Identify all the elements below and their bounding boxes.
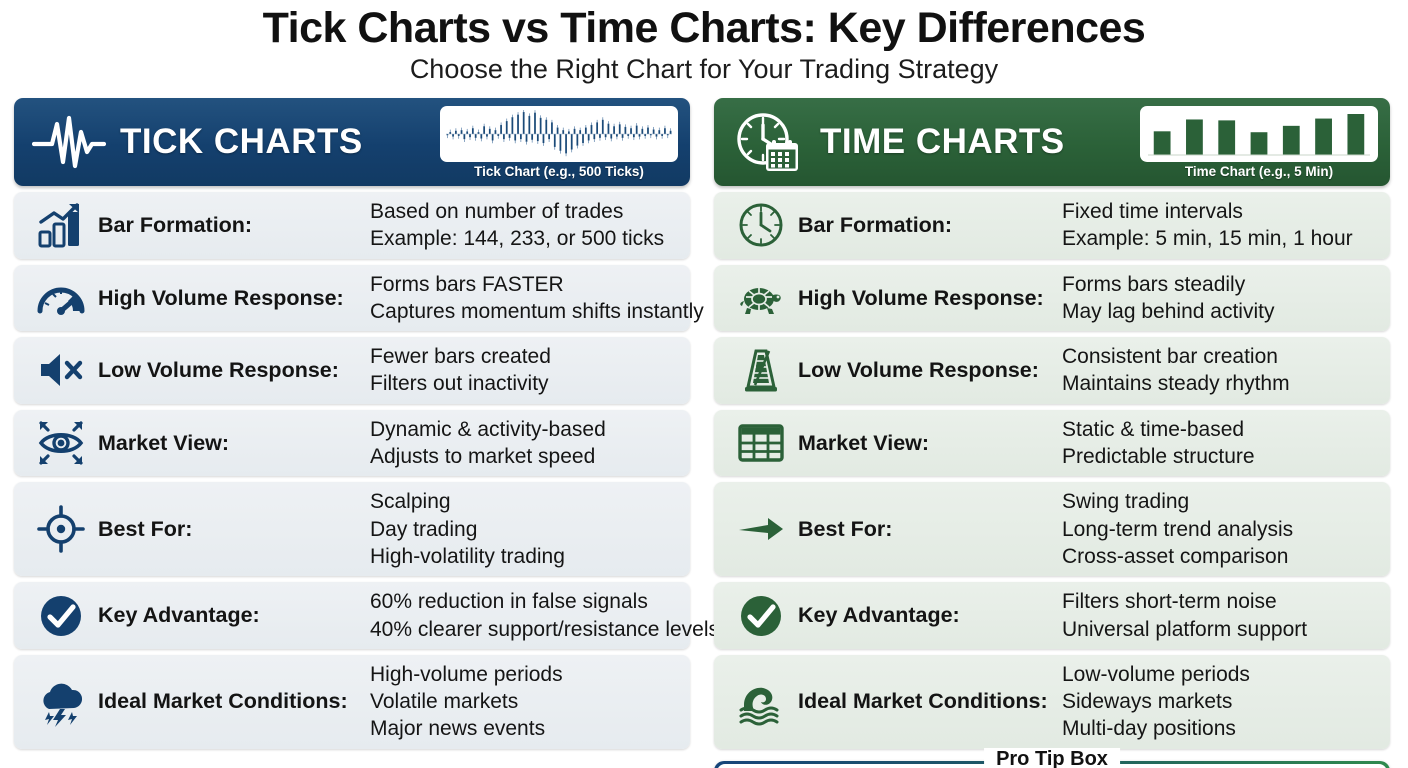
- speedometer-icon: [28, 273, 94, 323]
- row-value: Forms bars steadilyMay lag behind activi…: [1062, 271, 1380, 326]
- row-label: High Volume Response:: [794, 286, 1062, 311]
- row-value-line: Forms bars steadily: [1062, 271, 1380, 298]
- table-row: Low Volume Response:Consistent bar creat…: [714, 337, 1390, 404]
- time-panel-title: TIME CHARTS: [820, 122, 1065, 162]
- time-rows-list: Bar Formation:Fixed time intervalsExampl…: [714, 192, 1390, 749]
- row-value-line: Multi-day positions: [1062, 715, 1380, 742]
- table-row: Market View:Static & time-basedPredictab…: [714, 410, 1390, 477]
- tick-panel-title: TICK CHARTS: [120, 122, 363, 162]
- arrow-right-icon: [728, 504, 794, 554]
- row-value-line: May lag behind activity: [1062, 298, 1380, 325]
- comparison-columns: TICK CHARTS Tick Chart (e.g., 500 Ticks)…: [0, 98, 1408, 768]
- row-value: Dynamic & activity-basedAdjusts to marke…: [370, 416, 680, 471]
- row-value-line: Adjusts to market speed: [370, 443, 680, 470]
- table-row: Bar Formation:Fixed time intervalsExampl…: [714, 192, 1390, 259]
- row-value-line: Universal platform support: [1062, 616, 1380, 643]
- wave-icon: [728, 677, 794, 727]
- table-row: High Volume Response:Forms bars FASTERCa…: [14, 265, 690, 332]
- row-value-line: Filters out inactivity: [370, 370, 680, 397]
- row-value: Low-volume periodsSideways marketsMulti-…: [1062, 661, 1380, 743]
- row-value-line: Captures momentum shifts instantly: [370, 298, 704, 325]
- row-value-line: Consistent bar creation: [1062, 343, 1380, 370]
- row-value-line: Example: 5 min, 15 min, 1 hour: [1062, 225, 1380, 252]
- tick-panel-header: TICK CHARTS Tick Chart (e.g., 500 Ticks): [14, 98, 690, 186]
- row-value: Forms bars FASTERCaptures momentum shift…: [370, 271, 704, 326]
- row-value: Based on number of tradesExample: 144, 2…: [370, 198, 680, 253]
- row-value-line: High-volume periods: [370, 661, 680, 688]
- pro-tip-legend: Pro Tip Box: [984, 748, 1120, 768]
- row-value-line: Based on number of trades: [370, 198, 680, 225]
- row-value-line: 60% reduction in false signals: [370, 588, 719, 615]
- tick-charts-column: TICK CHARTS Tick Chart (e.g., 500 Ticks)…: [14, 98, 690, 768]
- time-charts-column: TIME CHARTS Time Chart (e.g., 5 Min) Bar…: [714, 98, 1390, 768]
- row-value-line: Dynamic & activity-based: [370, 416, 680, 443]
- row-value-line: Fixed time intervals: [1062, 198, 1380, 225]
- table-row: High Volume Response:Forms bars steadily…: [714, 265, 1390, 332]
- tick-mini-chart-plot: [440, 106, 678, 162]
- row-label: Market View:: [794, 431, 1062, 456]
- pro-tip-box: Pro Tip Box: [714, 761, 1390, 768]
- row-value: Fixed time intervalsExample: 5 min, 15 m…: [1062, 198, 1380, 253]
- row-label: Best For:: [94, 517, 370, 542]
- row-value-line: Example: 144, 233, or 500 ticks: [370, 225, 680, 252]
- row-value-line: Swing trading: [1062, 488, 1380, 515]
- row-value-line: Long-term trend analysis: [1062, 516, 1380, 543]
- turtle-icon: [728, 273, 794, 323]
- header: Tick Charts vs Time Charts: Key Differen…: [0, 0, 1408, 86]
- row-value: High-volume periodsVolatile marketsMajor…: [370, 661, 680, 743]
- check-circle-icon: [728, 591, 794, 641]
- metronome-icon: [728, 345, 794, 395]
- row-value: Consistent bar creationMaintains steady …: [1062, 343, 1380, 398]
- row-value: Fewer bars createdFilters out inactivity: [370, 343, 680, 398]
- row-value-line: Forms bars FASTER: [370, 271, 704, 298]
- time-mini-chart-caption: Time Chart (e.g., 5 Min): [1140, 164, 1378, 179]
- time-bar-chart: [1146, 110, 1372, 158]
- row-label: Low Volume Response:: [94, 358, 370, 383]
- row-label: Ideal Market Conditions:: [94, 689, 370, 714]
- row-value-line: High-volatility trading: [370, 543, 680, 570]
- pulse-wave-icon: [32, 111, 106, 173]
- row-label: Best For:: [794, 517, 1062, 542]
- row-label: Ideal Market Conditions:: [794, 689, 1062, 714]
- crosshair-target-icon: [28, 504, 94, 554]
- table-row: Market View:Dynamic & activity-basedAdju…: [14, 410, 690, 477]
- table-row: Key Advantage:60% reduction in false sig…: [14, 582, 690, 649]
- table-row: Ideal Market Conditions:Low-volume perio…: [714, 655, 1390, 749]
- row-value-line: Volatile markets: [370, 688, 680, 715]
- row-value-line: Fewer bars created: [370, 343, 680, 370]
- tick-mini-chart-caption: Tick Chart (e.g., 500 Ticks): [440, 164, 678, 179]
- row-value-line: Scalping: [370, 488, 680, 515]
- row-value-line: Sideways markets: [1062, 688, 1380, 715]
- storm-cloud-icon: [28, 677, 94, 727]
- tick-rows-list: Bar Formation:Based on number of tradesE…: [14, 192, 690, 749]
- mute-speaker-icon: [28, 345, 94, 395]
- row-value-line: Filters short-term noise: [1062, 588, 1380, 615]
- check-circle-icon: [28, 591, 94, 641]
- table-row: Best For:Swing tradingLong-term trend an…: [714, 482, 1390, 576]
- clock-icon: [728, 200, 794, 250]
- row-label: Key Advantage:: [94, 603, 370, 628]
- time-panel-header: TIME CHARTS Time Chart (e.g., 5 Min): [714, 98, 1390, 186]
- row-value-line: Maintains steady rhythm: [1062, 370, 1380, 397]
- clock-calendar-icon: [732, 111, 806, 173]
- page-title: Tick Charts vs Time Charts: Key Differen…: [0, 4, 1408, 52]
- tick-mini-chart: Tick Chart (e.g., 500 Ticks): [440, 106, 678, 179]
- row-value: Filters short-term noiseUniversal platfo…: [1062, 588, 1380, 643]
- row-value: Static & time-basedPredictable structure: [1062, 416, 1380, 471]
- table-row: Ideal Market Conditions:High-volume peri…: [14, 655, 690, 749]
- row-label: High Volume Response:: [94, 286, 370, 311]
- row-label: Key Advantage:: [794, 603, 1062, 628]
- table-row: Key Advantage:Filters short-term noiseUn…: [714, 582, 1390, 649]
- row-value-line: Cross-asset comparison: [1062, 543, 1380, 570]
- grid-table-icon: [728, 418, 794, 468]
- eye-expand-icon: [28, 418, 94, 468]
- row-value: Swing tradingLong-term trend analysisCro…: [1062, 488, 1380, 570]
- tick-sparkline: [446, 110, 672, 158]
- time-mini-chart-plot: [1140, 106, 1378, 162]
- row-value: 60% reduction in false signals40% cleare…: [370, 588, 719, 643]
- row-label: Low Volume Response:: [794, 358, 1062, 383]
- row-value-line: Major news events: [370, 715, 680, 742]
- table-row: Best For:ScalpingDay tradingHigh-volatil…: [14, 482, 690, 576]
- row-value-line: Static & time-based: [1062, 416, 1380, 443]
- row-value-line: 40% clearer support/resistance levels: [370, 616, 719, 643]
- row-value-line: Predictable structure: [1062, 443, 1380, 470]
- row-label: Bar Formation:: [94, 213, 370, 238]
- page-subtitle: Choose the Right Chart for Your Trading …: [0, 53, 1408, 85]
- bar-chart-growth-icon: [28, 200, 94, 250]
- row-value-line: Low-volume periods: [1062, 661, 1380, 688]
- infographic-page: Tick Charts vs Time Charts: Key Differen…: [0, 0, 1408, 768]
- time-mini-chart: Time Chart (e.g., 5 Min): [1140, 106, 1378, 179]
- table-row: Bar Formation:Based on number of tradesE…: [14, 192, 690, 259]
- row-value: ScalpingDay tradingHigh-volatility tradi…: [370, 488, 680, 570]
- row-label: Market View:: [94, 431, 370, 456]
- table-row: Low Volume Response:Fewer bars createdFi…: [14, 337, 690, 404]
- row-label: Bar Formation:: [794, 213, 1062, 238]
- row-value-line: Day trading: [370, 516, 680, 543]
